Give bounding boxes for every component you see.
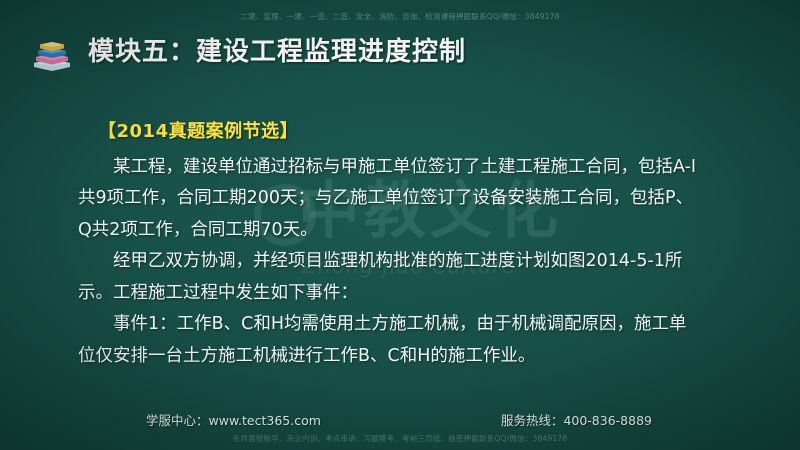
bottom-note-text: 名师面授精华、央企内训、考点串讲、习题模考、考前三页纸、绝密押题联系QQ/微信：…	[0, 433, 800, 444]
hotline-label: 服务热线：400-836-8889	[501, 410, 652, 429]
service-center-label: 学服中心：www.tect365.com	[146, 410, 321, 429]
presentation-slide: 二建、监理、一建、一造、二造、安全、消防、咨询、检测课程押题联系QQ/微信：38…	[0, 0, 800, 450]
paragraph-2: 经甲乙双方协调，并经项目监理机构批准的施工进度计划如图2014-5-1所示。工程…	[78, 246, 698, 309]
case-highlight-label: 【2014真题案例节选】	[98, 116, 698, 148]
slide-footer: 学服中心：www.tect365.com 服务热线：400-836-8889	[0, 410, 800, 428]
paragraph-3: 事件1：工作B、C和H均需使用土方施工机械，由于机械调配原因，施工单位仅安排一台…	[78, 309, 698, 372]
page-title: 模块五：建设工程监理进度控制	[88, 39, 466, 65]
slide-body: 【2014真题案例节选】 某工程，建设单位通过招标与甲施工单位签订了土建工程施工…	[78, 116, 698, 372]
top-banner-text: 二建、监理、一建、一造、二造、安全、消防、咨询、检测课程押题联系QQ/微信：38…	[0, 11, 800, 22]
paragraph-1: 某工程，建设单位通过招标与甲施工单位签订了土建工程施工合同，包括A-I共9项工作…	[78, 152, 698, 247]
stack-of-books-icon	[30, 32, 74, 72]
slide-header: 模块五：建设工程监理进度控制	[30, 32, 466, 72]
